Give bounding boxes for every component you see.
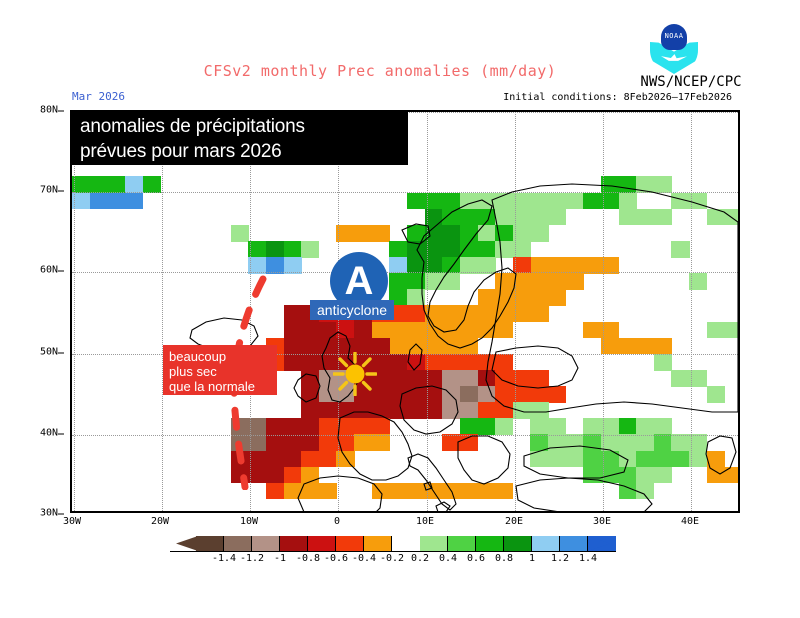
colorbar-swatch — [504, 536, 532, 551]
x-tick-30e: 30E — [593, 516, 611, 527]
anomaly-cell — [460, 193, 478, 210]
noaa-logo-icon: NOAA — [648, 24, 700, 76]
anomaly-cell — [671, 370, 689, 387]
anomaly-cell — [301, 483, 319, 500]
colorbar-tick-neg1: -1 — [274, 553, 286, 564]
anomaly-cell — [460, 225, 478, 242]
y-tick-mark — [58, 513, 64, 514]
anomaly-cell — [319, 322, 337, 339]
anomaly-cell — [619, 451, 637, 468]
anomaly-cell — [478, 225, 496, 242]
anomaly-cell — [478, 483, 496, 500]
anomaly-cell — [336, 418, 354, 435]
gridline-horizontal — [72, 435, 738, 436]
anomaly-cell — [530, 386, 548, 403]
anomaly-cell — [284, 434, 302, 451]
anomaly-cell — [530, 273, 548, 290]
gridline-vertical — [162, 112, 163, 511]
colorbar-tick-0p6: 0.6 — [467, 553, 485, 564]
anomaly-cell — [442, 209, 460, 226]
colorbar-swatch — [252, 536, 280, 551]
y-tick-40n: 40N — [40, 428, 58, 439]
x-tick-10w: 10W — [240, 516, 258, 527]
anomaly-cell — [566, 451, 584, 468]
anomaly-cell — [319, 418, 337, 435]
y-tick-70n: 70N — [40, 185, 58, 196]
anomaly-cell — [354, 225, 372, 242]
anomaly-cell — [530, 451, 548, 468]
anomaly-cell — [301, 434, 319, 451]
anomaly-cell — [407, 193, 425, 210]
anomaly-cell — [354, 434, 372, 451]
colorbar-tick-0p4: 0.4 — [439, 553, 457, 564]
anomaly-cell — [478, 289, 496, 306]
anomaly-cell — [372, 225, 390, 242]
anomaly-cell — [478, 354, 496, 371]
gridline-vertical — [74, 112, 75, 511]
anomaly-cell — [284, 354, 302, 371]
anomaly-cell — [671, 451, 689, 468]
anomaly-cell — [372, 434, 390, 451]
anomaly-cell — [530, 225, 548, 242]
anomaly-cell — [495, 305, 513, 322]
initial-conditions-label: Initial conditions: 8Feb2026–17Feb2026 — [503, 92, 732, 103]
anomaly-cell — [389, 338, 407, 355]
anomaly-cell — [478, 209, 496, 226]
anomaly-cell — [654, 467, 672, 484]
colorbar-tick-neg1p4: -1.4 — [212, 553, 236, 564]
anomaly-cell — [319, 451, 337, 468]
colorbar-under-arrow — [176, 536, 198, 551]
anomaly-cell — [284, 467, 302, 484]
dry-callout-line-3: que la normale — [169, 379, 271, 394]
weather-map-page: CFSv2 monthly Prec anomalies (mm/day) NO… — [0, 0, 800, 618]
colorbar-swatch — [476, 536, 504, 551]
y-tick-mark — [58, 433, 64, 434]
anomaly-cell — [654, 418, 672, 435]
anomaly-cell — [407, 354, 425, 371]
anomaly-cell — [530, 193, 548, 210]
anomaly-cell — [284, 338, 302, 355]
colorbar-swatch — [336, 536, 364, 551]
anomaly-cell — [707, 386, 725, 403]
anomaly-cell — [636, 176, 654, 193]
anomaly-cell — [442, 386, 460, 403]
gridline-horizontal — [72, 272, 738, 273]
anomaly-cell — [460, 402, 478, 419]
anomaly-cell — [442, 305, 460, 322]
anomaly-cell — [389, 483, 407, 500]
anomaly-cell — [460, 418, 478, 435]
anomaly-cell — [107, 176, 125, 193]
anomaly-cell — [442, 338, 460, 355]
anomaly-cell — [495, 386, 513, 403]
anomaly-cell — [619, 483, 637, 500]
anomaly-cell — [636, 467, 654, 484]
colorbar-swatch — [392, 536, 420, 551]
colorbar-swatch — [532, 536, 560, 551]
anomaly-cell — [284, 241, 302, 258]
colorbar-swatch — [196, 536, 224, 551]
anomaly-cell — [389, 273, 407, 290]
anomaly-cell — [301, 451, 319, 468]
anomaly-cell — [407, 289, 425, 306]
dry-anomaly-callout: beaucoup plus sec que la normale — [163, 345, 277, 395]
anomaly-cell — [724, 209, 740, 226]
anomaly-cell — [495, 354, 513, 371]
gridline-vertical — [515, 112, 516, 511]
anomaly-cell — [90, 193, 108, 210]
anomaly-cell — [636, 483, 654, 500]
anomaly-cell — [372, 402, 390, 419]
anomaly-cell — [548, 273, 566, 290]
anomaly-cell — [530, 418, 548, 435]
anomaly-cell — [460, 370, 478, 387]
anomaly-cell — [407, 241, 425, 258]
anomaly-cell — [319, 434, 337, 451]
anomaly-cell — [336, 322, 354, 339]
colorbar-swatch — [364, 536, 392, 551]
anomaly-cell — [301, 467, 319, 484]
anomaly-cell — [707, 451, 725, 468]
anomaly-cell — [442, 483, 460, 500]
anomaly-cell — [301, 322, 319, 339]
colorbar-tick-neg0p2: -0.2 — [380, 553, 404, 564]
anomaly-cell — [372, 418, 390, 435]
anomaly-cell — [125, 193, 143, 210]
anomaly-cell — [442, 241, 460, 258]
anomaly-cell — [495, 370, 513, 387]
anomaly-cell — [548, 193, 566, 210]
anomaly-cell — [301, 241, 319, 258]
x-tick-10e: 10E — [416, 516, 434, 527]
colorbar-swatch — [308, 536, 336, 551]
anomaly-cell — [619, 467, 637, 484]
y-tick-80n: 80N — [40, 105, 58, 116]
anomaly-cell — [548, 289, 566, 306]
anomaly-cell — [407, 305, 425, 322]
headline-line-2: prévues pour mars 2026 — [80, 139, 400, 164]
anomaly-cell — [654, 176, 672, 193]
anomaly-cell — [654, 354, 672, 371]
colorbar-tick-1p4: 1.4 — [579, 553, 597, 564]
anomaly-cell — [407, 386, 425, 403]
anomaly-cell — [654, 451, 672, 468]
anomaly-cell — [495, 418, 513, 435]
anomaly-cell — [460, 241, 478, 258]
anomaly-cell — [724, 322, 740, 339]
anomaly-cell — [530, 370, 548, 387]
anomaly-cell — [460, 209, 478, 226]
anticyclone-label: anticyclone — [310, 300, 394, 320]
anomaly-cell — [548, 434, 566, 451]
anomaly-cell — [460, 305, 478, 322]
anomaly-cell — [319, 483, 337, 500]
anomaly-cell — [530, 402, 548, 419]
anomaly-cell — [389, 386, 407, 403]
anomaly-cell — [460, 338, 478, 355]
noaa-logo-text: NOAA — [661, 32, 687, 40]
anomaly-cell — [460, 354, 478, 371]
anomaly-cell — [442, 273, 460, 290]
anomaly-cell — [407, 402, 425, 419]
anomaly-cell — [407, 322, 425, 339]
anomaly-cell — [301, 386, 319, 403]
anomaly-cell — [389, 354, 407, 371]
anomaly-map — [70, 110, 740, 513]
anomaly-cell — [548, 209, 566, 226]
anomaly-cell — [442, 322, 460, 339]
anomaly-cell — [478, 322, 496, 339]
anomaly-cell — [495, 273, 513, 290]
anomaly-cell — [619, 418, 637, 435]
x-tick-30w: 30W — [63, 516, 81, 527]
anomaly-cell — [266, 241, 284, 258]
anomaly-cell — [478, 386, 496, 403]
anomaly-cell — [583, 451, 601, 468]
anomaly-cell — [707, 322, 725, 339]
anomaly-cell — [354, 322, 372, 339]
colorbar-tick-0p8: 0.8 — [495, 553, 513, 564]
anomaly-cell — [478, 418, 496, 435]
colorbar-baseline — [170, 551, 616, 552]
colorbar-tick-1p2: 1.2 — [551, 553, 569, 564]
anomaly-cell — [301, 354, 319, 371]
anomaly-cell — [636, 418, 654, 435]
x-tick-20w: 20W — [151, 516, 169, 527]
anomaly-cell — [671, 193, 689, 210]
anomaly-cell — [442, 370, 460, 387]
anomaly-cell — [407, 273, 425, 290]
anomaly-cell — [724, 467, 740, 484]
anomaly-cell — [336, 451, 354, 468]
anomaly-cell — [619, 209, 637, 226]
anomaly-cell — [548, 386, 566, 403]
anomaly-cell — [619, 176, 637, 193]
x-tick-0: 0 — [334, 516, 340, 527]
anomaly-cell — [495, 402, 513, 419]
headline-line-1: anomalies de précipitations — [80, 114, 400, 139]
anomaly-cell — [495, 289, 513, 306]
anomaly-cell — [583, 418, 601, 435]
anomaly-cell — [671, 434, 689, 451]
anomaly-cell — [707, 209, 725, 226]
anomaly-cell — [566, 193, 584, 210]
anomaly-cell — [301, 338, 319, 355]
anomaly-cell — [231, 225, 249, 242]
anomaly-cell — [583, 322, 601, 339]
anomaly-cell — [248, 241, 266, 258]
sun-icon — [333, 352, 377, 396]
anomaly-cell — [389, 241, 407, 258]
gridline-vertical — [427, 112, 428, 511]
colorbar-tick-neg1p2: -1.2 — [240, 553, 264, 564]
colorbar-tick-neg0p4: -0.4 — [352, 553, 376, 564]
y-tick-mark — [58, 190, 64, 191]
agency-label: NWS/NCEP/CPC — [596, 74, 786, 90]
anomaly-cell — [619, 193, 637, 210]
anomaly-cell — [336, 434, 354, 451]
anomaly-cell — [407, 483, 425, 500]
anomaly-cell — [125, 176, 143, 193]
headline-banner: anomalies de précipitations prévues pour… — [70, 110, 408, 165]
colorbar-swatch — [280, 536, 308, 551]
anomaly-cell — [636, 338, 654, 355]
anomaly-cell — [478, 193, 496, 210]
anomaly-cell — [495, 193, 513, 210]
anomaly-cell — [460, 434, 478, 451]
y-tick-30n: 30N — [40, 508, 58, 519]
gridline-vertical — [691, 112, 692, 511]
anomaly-cell — [143, 176, 161, 193]
gridline-horizontal — [72, 192, 738, 193]
anomaly-cell — [583, 434, 601, 451]
month-tag-label: Mar 2026 — [72, 90, 125, 103]
anomaly-cell — [636, 451, 654, 468]
anomaly-cell — [619, 338, 637, 355]
x-tick-20e: 20E — [505, 516, 523, 527]
anomaly-cell — [372, 483, 390, 500]
anomaly-cell — [442, 354, 460, 371]
anomaly-cell — [284, 483, 302, 500]
colorbar-swatch — [448, 536, 476, 551]
y-tick-mark — [58, 352, 64, 353]
y-tick-60n: 60N — [40, 265, 58, 276]
colorbar-swatch — [224, 536, 252, 551]
anomaly-cell — [478, 370, 496, 387]
colorbar-tick-neg0p6: -0.6 — [324, 553, 348, 564]
anomaly-cell — [407, 225, 425, 242]
anomaly-cell — [495, 241, 513, 258]
anomaly-cell — [566, 273, 584, 290]
anomaly-cell — [389, 402, 407, 419]
anomaly-cell — [495, 209, 513, 226]
anomaly-cell — [460, 322, 478, 339]
anomaly-cell — [90, 176, 108, 193]
anomaly-cell — [372, 322, 390, 339]
colorbar-swatch — [560, 536, 588, 551]
anomaly-cell — [495, 225, 513, 242]
anomaly-cell — [319, 402, 337, 419]
anomaly-cell — [107, 193, 125, 210]
colorbar — [196, 536, 616, 551]
anomaly-cell — [636, 209, 654, 226]
y-tick-50n: 50N — [40, 347, 58, 358]
colorbar-tick-0p2: 0.2 — [411, 553, 429, 564]
anomaly-cell — [389, 370, 407, 387]
anomaly-cell — [671, 241, 689, 258]
anomaly-cell — [583, 193, 601, 210]
anomaly-cell — [407, 370, 425, 387]
anomaly-cell — [284, 451, 302, 468]
anomaly-cell — [530, 289, 548, 306]
anomaly-cell — [707, 467, 725, 484]
anomaly-cell — [478, 305, 496, 322]
colorbar-tick-neg0p8: -0.8 — [296, 553, 320, 564]
x-tick-40e: 40E — [681, 516, 699, 527]
y-tick-mark — [58, 270, 64, 271]
anomaly-cell — [442, 402, 460, 419]
anomaly-cell — [301, 402, 319, 419]
colorbar-tick-1: 1 — [529, 553, 535, 564]
anomaly-cell — [460, 483, 478, 500]
anomaly-cell — [336, 225, 354, 242]
anomaly-cell — [407, 338, 425, 355]
anomaly-cell — [548, 418, 566, 435]
anomaly-cell — [654, 209, 672, 226]
anomaly-cell — [654, 338, 672, 355]
anomaly-cell — [530, 209, 548, 226]
dry-callout-line-1: beaucoup — [169, 349, 271, 364]
anomaly-cell — [654, 434, 672, 451]
noaa-shield-shape: NOAA — [661, 24, 687, 50]
anomaly-cell — [354, 418, 372, 435]
anomaly-cell — [354, 402, 372, 419]
anomaly-cell — [336, 402, 354, 419]
colorbar-swatch — [420, 536, 448, 551]
gridline-vertical — [603, 112, 604, 511]
anomaly-cell — [636, 434, 654, 451]
anomaly-cell — [284, 305, 302, 322]
anomaly-cell — [530, 434, 548, 451]
anomaly-cell — [478, 402, 496, 419]
anomaly-cell — [442, 193, 460, 210]
anomaly-cell — [284, 322, 302, 339]
anomaly-cell — [442, 434, 460, 451]
anomaly-cell — [566, 434, 584, 451]
anomaly-cell — [548, 451, 566, 468]
y-tick-mark — [58, 110, 64, 111]
anomaly-cell — [530, 305, 548, 322]
anomaly-cell — [495, 483, 513, 500]
anomaly-cell — [460, 386, 478, 403]
anomaly-cell — [495, 322, 513, 339]
anomaly-cell — [478, 241, 496, 258]
anomaly-cell — [619, 434, 637, 451]
anomaly-cell — [301, 418, 319, 435]
anomaly-cell — [583, 467, 601, 484]
dry-callout-line-2: plus sec — [169, 364, 271, 379]
anomaly-cell — [389, 322, 407, 339]
anomaly-cell — [442, 225, 460, 242]
anomaly-cell — [301, 370, 319, 387]
anomaly-cell — [284, 418, 302, 435]
